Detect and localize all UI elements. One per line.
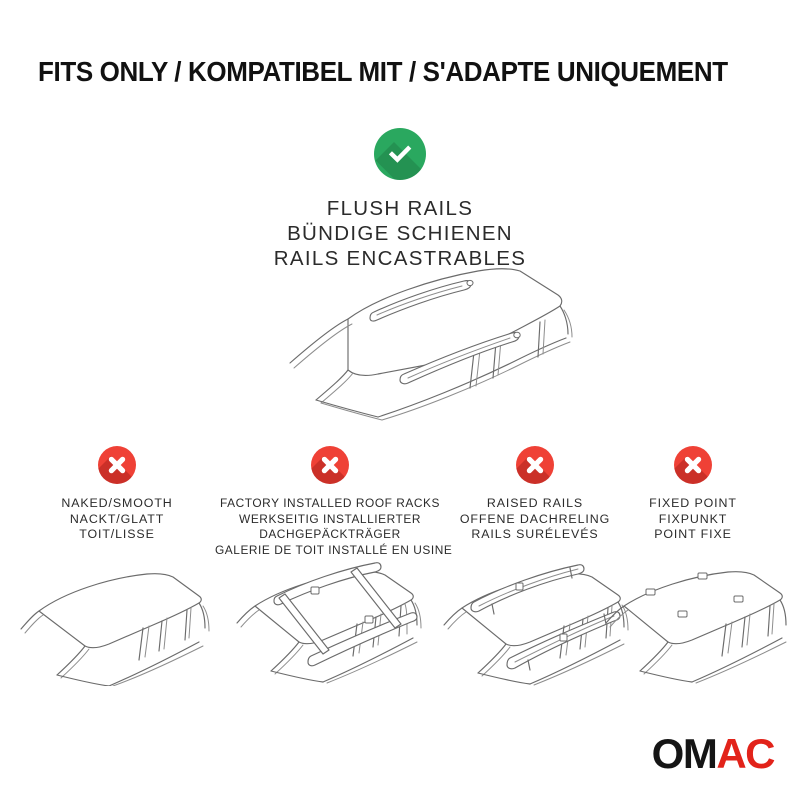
label-line-en: FACTORY INSTALLED ROOF RACKS [215,496,445,512]
car-roof-with-factory-crossbars-illustration [225,556,435,691]
incompatible-labels: FIXED POINT FIXPUNKT POINT FIXE [620,496,766,543]
incompatible-item-naked-smooth: NAKED/SMOOTH NACKT/GLATT TOIT/LISSE [17,446,217,543]
label-line-en: NAKED/SMOOTH [17,496,217,512]
compatible-section: FLUSH RAILS BÜNDIGE SCHIENEN RAILS ENCAS… [0,128,800,271]
compatible-label-de: BÜNDIGE SCHIENEN [0,221,800,246]
red-x-circle-icon [674,446,712,484]
label-line-de-2: DACHGEPÄCKTRÄGER [215,527,445,543]
incompatible-labels: NAKED/SMOOTH NACKT/GLATT TOIT/LISSE [17,496,217,543]
fitment-infographic: FITS ONLY / KOMPATIBEL MIT / S'ADAPTE UN… [0,0,800,800]
label-line-fr: POINT FIXE [620,527,766,543]
red-x-circle-icon [311,446,349,484]
page-title: FITS ONLY / KOMPATIBEL MIT / S'ADAPTE UN… [38,56,737,88]
car-roof-bare-smooth-illustration [17,556,217,691]
compatible-badge-wrap [0,128,800,180]
red-x-circle-icon [98,446,136,484]
label-line-de-1: WERKSEITIG INSTALLIERTER [215,512,445,528]
omac-logo: OMAC [652,734,774,774]
label-line-en: RAISED RAILS [432,496,638,512]
car-roof-with-flush-rails-illustration [228,262,578,432]
incompatible-item-raised-rails: RAISED RAILS OFFENE DACHRELING RAILS SUR… [432,446,638,543]
label-line-fr: RAILS SURÉLEVÉS [432,527,638,543]
red-x-circle-icon [516,446,554,484]
label-line-de: OFFENE DACHRELING [432,512,638,528]
incompatible-labels: RAISED RAILS OFFENE DACHRELING RAILS SUR… [432,496,638,543]
incompatible-item-factory-roof-racks: FACTORY INSTALLED ROOF RACKS WERKSEITIG … [215,446,445,558]
compatible-labels: FLUSH RAILS BÜNDIGE SCHIENEN RAILS ENCAS… [0,196,800,271]
label-line-de: NACKT/GLATT [17,512,217,528]
compatible-label-en: FLUSH RAILS [0,196,800,221]
label-line-en: FIXED POINT [620,496,766,512]
green-check-circle-icon [374,128,426,180]
label-line-fr: TOIT/LISSE [17,527,217,543]
logo-text-red: AC [716,733,774,775]
label-line-de: FIXPUNKT [620,512,766,528]
car-roof-with-fixed-points-illustration [598,556,788,691]
logo-text-dark: OM [652,733,717,775]
incompatible-item-fixed-point: FIXED POINT FIXPUNKT POINT FIXE [620,446,766,543]
incompatible-labels: FACTORY INSTALLED ROOF RACKS WERKSEITIG … [215,496,445,558]
